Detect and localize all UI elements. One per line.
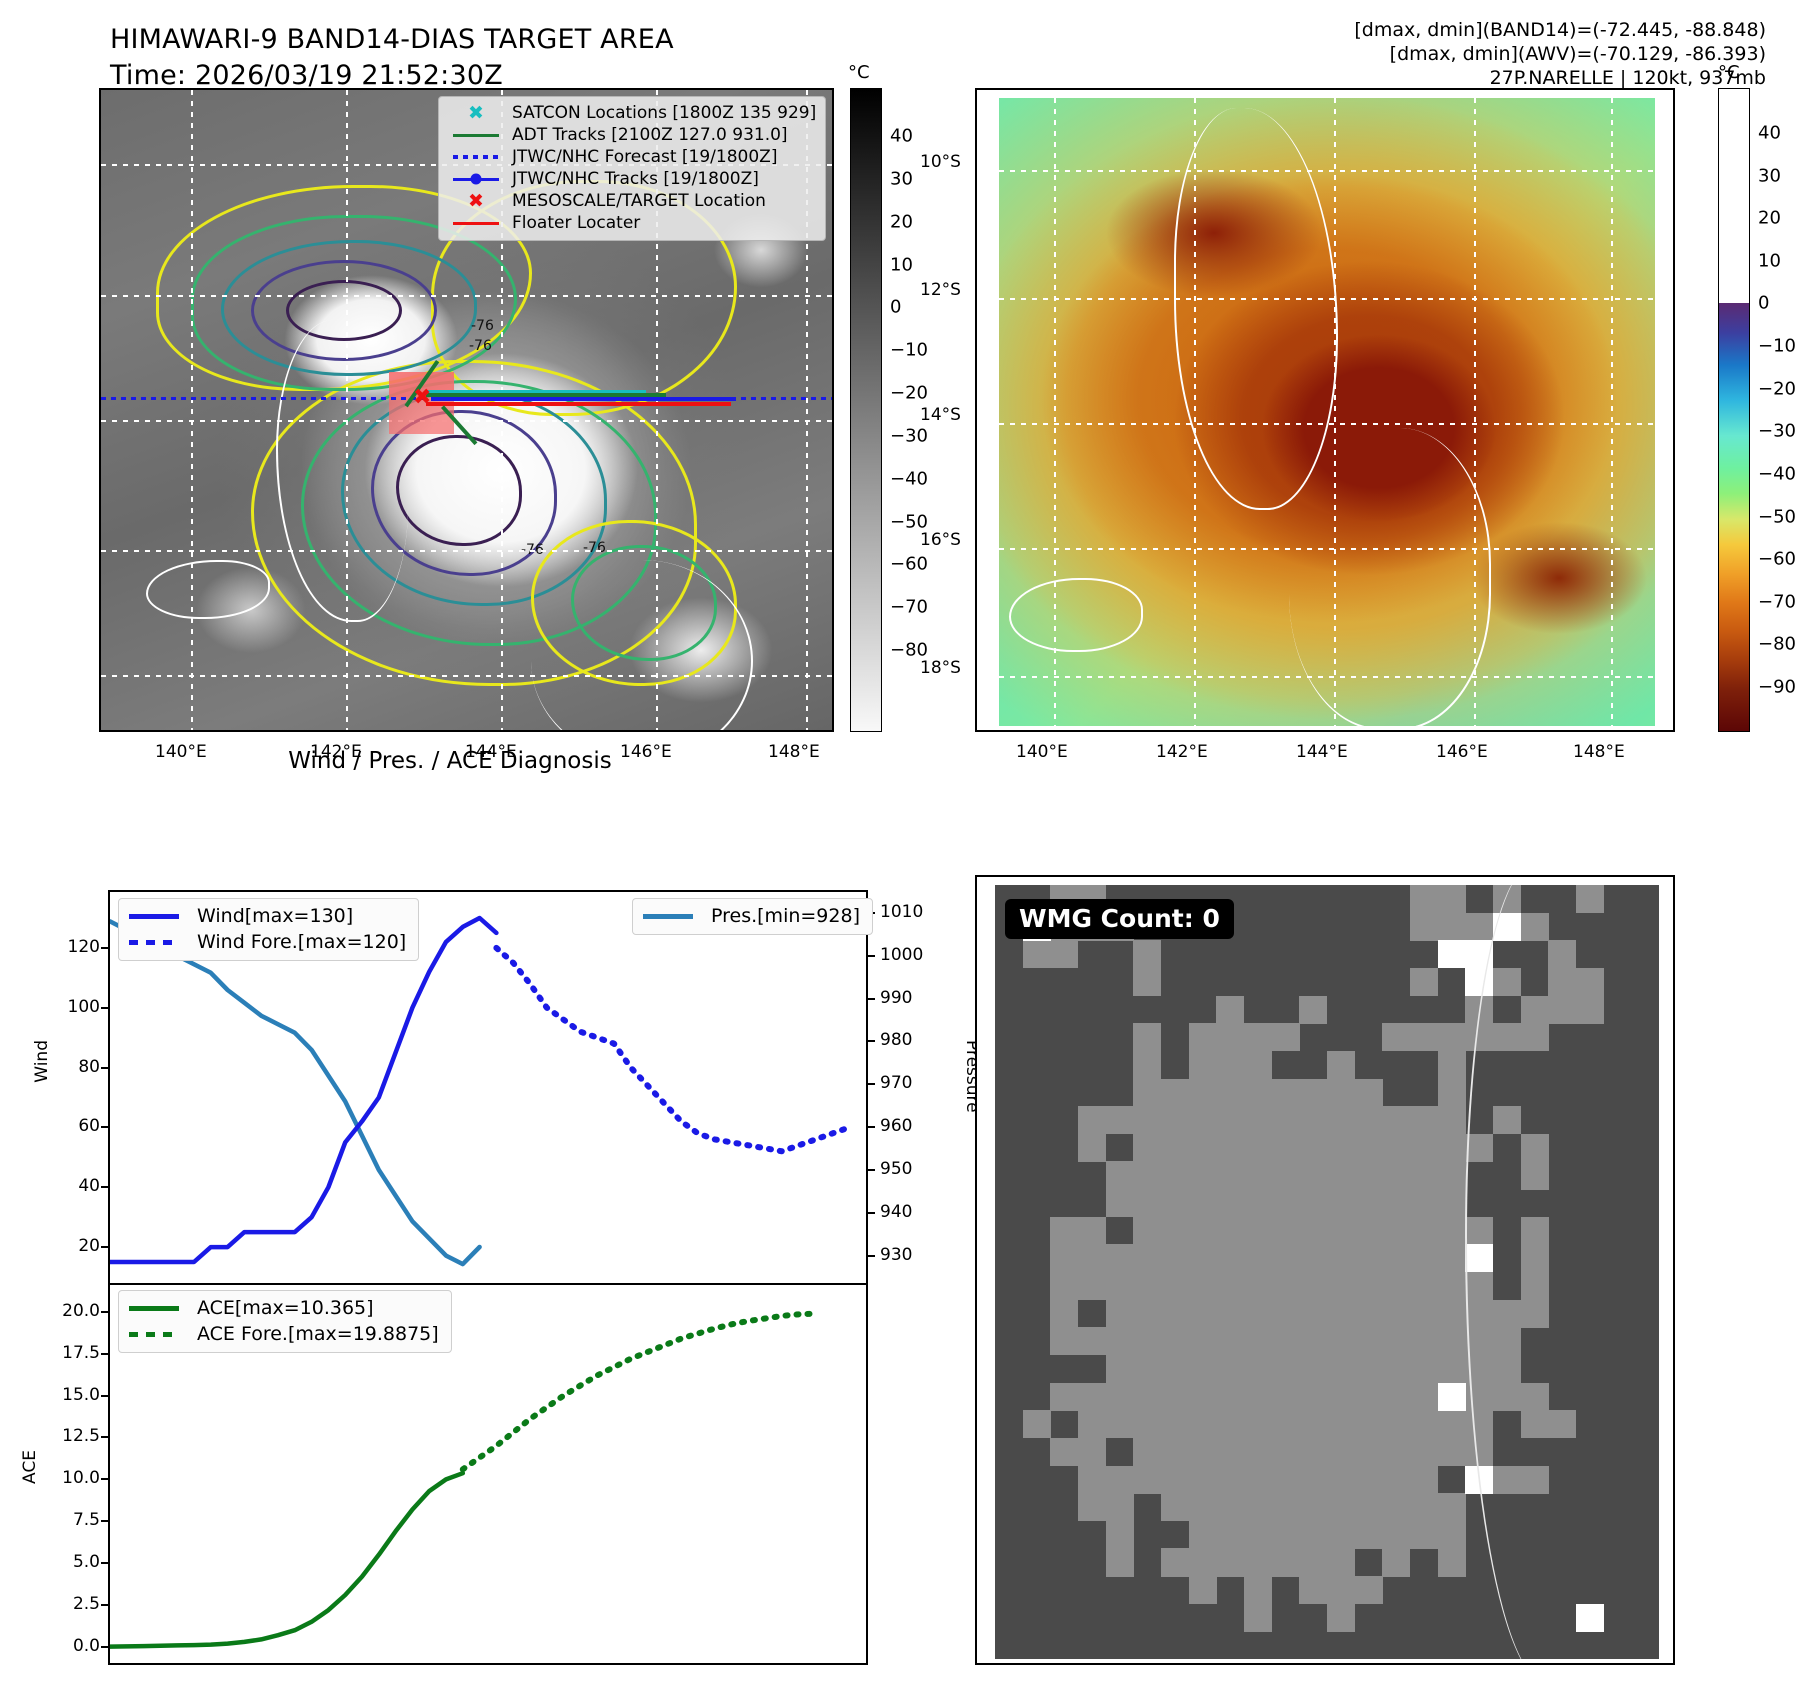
wmg-cell bbox=[1382, 1244, 1410, 1272]
ace-ytick: 5.0 bbox=[38, 1552, 100, 1572]
wmg-cell bbox=[1355, 1438, 1383, 1466]
wmg-cell bbox=[1161, 1466, 1189, 1494]
wmg-cell bbox=[1438, 1410, 1466, 1438]
chart-series-line bbox=[110, 918, 496, 1262]
legend-item-floater[interactable]: Floater Locater bbox=[448, 212, 816, 234]
wmg-cell bbox=[1272, 1327, 1300, 1355]
wmg-cell bbox=[1244, 1493, 1272, 1521]
wmg-cell bbox=[1133, 1244, 1161, 1272]
wind-ytick: 20 bbox=[48, 1236, 100, 1256]
awv-coastline-1 bbox=[1174, 108, 1338, 510]
wmg-cell bbox=[1216, 996, 1244, 1024]
wmg-cell bbox=[1244, 1410, 1272, 1438]
ace-tickmark bbox=[101, 1478, 110, 1480]
gridline-lat-16 bbox=[101, 550, 834, 552]
legend-label-wind: Wind[max=130] bbox=[197, 905, 353, 927]
wmg-cell bbox=[1410, 1217, 1438, 1245]
wmg-cell bbox=[1216, 1023, 1244, 1051]
wmg-cell bbox=[1244, 1161, 1272, 1189]
map-right-lat-label-1: 12°S bbox=[920, 280, 961, 300]
chart-series-line bbox=[496, 948, 849, 1151]
wmg-cell bbox=[1327, 1051, 1355, 1079]
legend-item-ace-forecast[interactable]: ACE Fore.[max=19.8875] bbox=[129, 1321, 439, 1347]
wmg-cell bbox=[1410, 1493, 1438, 1521]
wmg-cell bbox=[1299, 1327, 1327, 1355]
map-right-lat-label-3: 16°S bbox=[920, 530, 961, 550]
satcon-track bbox=[426, 390, 646, 393]
wmg-cell bbox=[1410, 913, 1438, 941]
colorbar-tick: −40 bbox=[1758, 463, 1796, 484]
wmg-cell bbox=[1465, 913, 1493, 941]
colorbar-tick: −50 bbox=[890, 511, 928, 532]
gridline-lat-12 bbox=[101, 295, 834, 297]
wmg-cell bbox=[1299, 996, 1327, 1024]
wmg-cell bbox=[1327, 1272, 1355, 1300]
wmg-cell bbox=[1299, 1466, 1327, 1494]
legend-item-adt[interactable]: ADT Tracks [2100Z 127.0 931.0] bbox=[448, 124, 816, 146]
awv-gridline-lon-140 bbox=[1054, 98, 1056, 726]
wmg-cell bbox=[1382, 1466, 1410, 1494]
wmg-cell bbox=[1327, 1521, 1355, 1549]
jtwc-forecast-dotted-icon bbox=[448, 155, 504, 159]
wmg-cell bbox=[1355, 1521, 1383, 1549]
legend-item-wind-forecast[interactable]: Wind Fore.[max=120] bbox=[129, 929, 406, 955]
gridline-lat-18 bbox=[101, 675, 834, 677]
wmg-cell bbox=[1438, 1079, 1466, 1107]
map-right-lon-label-3: 146°E bbox=[1436, 742, 1488, 762]
wmg-cell bbox=[1438, 1272, 1466, 1300]
pressure-tickmark bbox=[866, 998, 875, 1000]
wmg-cell bbox=[1382, 1327, 1410, 1355]
wmg-cell bbox=[1244, 1548, 1272, 1576]
wmg-cell bbox=[1161, 1244, 1189, 1272]
wmg-cell bbox=[1327, 1134, 1355, 1162]
pressure-chart-legend: Pres.[min=928] bbox=[632, 898, 873, 935]
wmg-cell bbox=[1299, 1438, 1327, 1466]
wmg-cell bbox=[1244, 1189, 1272, 1217]
wmg-cell bbox=[1438, 1189, 1466, 1217]
wmg-cell bbox=[1382, 1521, 1410, 1549]
wmg-cell bbox=[1272, 1521, 1300, 1549]
awv-gridline-lon-148 bbox=[1611, 98, 1613, 726]
wmg-cell bbox=[1355, 1327, 1383, 1355]
wmg-cell bbox=[1355, 1079, 1383, 1107]
wmg-cell-highlight bbox=[1438, 940, 1466, 968]
wmg-cell bbox=[1216, 1079, 1244, 1107]
ace-tickmark bbox=[101, 1646, 110, 1648]
wmg-cell bbox=[1327, 1244, 1355, 1272]
wmg-cell bbox=[1410, 1272, 1438, 1300]
ace-tickmark bbox=[101, 1520, 110, 1522]
wmg-cell bbox=[1272, 1355, 1300, 1383]
wmg-cell bbox=[1216, 1410, 1244, 1438]
jtwc-tracks-line-dot-icon bbox=[448, 178, 504, 181]
diagnosis-title: Wind / Pres. / ACE Diagnosis bbox=[20, 748, 880, 774]
wmg-cell bbox=[1355, 1493, 1383, 1521]
wmg-cell bbox=[1216, 1217, 1244, 1245]
legend-item-pressure[interactable]: Pres.[min=928] bbox=[643, 903, 860, 929]
colorbar-tick: −70 bbox=[890, 597, 928, 618]
legend-label-ace: ACE[max=10.365] bbox=[197, 1297, 374, 1319]
wmg-cell bbox=[1410, 1466, 1438, 1494]
ace-ytick: 0.0 bbox=[38, 1636, 100, 1656]
wmg-cell bbox=[1410, 1410, 1438, 1438]
wmg-cell bbox=[1438, 1438, 1466, 1466]
pressure-tickmark bbox=[866, 1169, 875, 1171]
wmg-cell bbox=[1382, 1438, 1410, 1466]
wmg-cell bbox=[1272, 1410, 1300, 1438]
wmg-cell bbox=[1438, 1300, 1466, 1328]
wmg-cell bbox=[1133, 1217, 1161, 1245]
pressure-ytick: 990 bbox=[880, 988, 912, 1008]
legend-item-mesoscale[interactable]: ✖ MESOSCALE/TARGET Location bbox=[448, 190, 816, 212]
wmg-cell bbox=[1410, 1023, 1438, 1051]
colorbar-tick: −20 bbox=[890, 383, 928, 404]
colorbar-tick: −70 bbox=[1758, 591, 1796, 612]
wmg-cell bbox=[1410, 968, 1438, 996]
wmg-cell bbox=[1244, 1466, 1272, 1494]
contour-label-4: -76 bbox=[583, 540, 606, 556]
wind-chart-legend: Wind[max=130] Wind Fore.[max=120] bbox=[118, 898, 419, 961]
wmg-cell bbox=[1161, 1079, 1189, 1107]
legend-label-pressure: Pres.[min=928] bbox=[711, 905, 860, 927]
pressure-tickmark bbox=[866, 1212, 875, 1214]
wmg-cell bbox=[1299, 1189, 1327, 1217]
wmg-cell bbox=[1216, 1466, 1244, 1494]
legend-label-jtwc-forecast: JTWC/NHC Forecast [19/1800Z] bbox=[512, 147, 777, 167]
wmg-cell bbox=[1133, 1383, 1161, 1411]
ace-tickmark bbox=[101, 1436, 110, 1438]
wmg-cell-highlight bbox=[1438, 1383, 1466, 1411]
map-right-lat-label-4: 18°S bbox=[920, 658, 961, 678]
wmg-cell bbox=[1410, 1134, 1438, 1162]
wmg-cell bbox=[1410, 1521, 1438, 1549]
wmg-cell bbox=[1133, 1410, 1161, 1438]
ace-tickmark bbox=[101, 1395, 110, 1397]
wmg-cell bbox=[1272, 1161, 1300, 1189]
wmg-cell bbox=[1078, 1466, 1106, 1494]
ace-ytick: 10.0 bbox=[38, 1468, 100, 1488]
colorbar-tick: 40 bbox=[1758, 123, 1781, 144]
wmg-cell bbox=[1327, 1217, 1355, 1245]
colorbar-left-unit: °C bbox=[848, 62, 870, 83]
wmg-cell bbox=[1382, 1023, 1410, 1051]
awv-gridline-lat-18 bbox=[999, 676, 1655, 678]
wmg-cell bbox=[1355, 1134, 1383, 1162]
pressure-ytick: 940 bbox=[880, 1202, 912, 1222]
awv-gridline-lat-16 bbox=[999, 548, 1655, 550]
pressure-line-icon bbox=[643, 914, 701, 919]
wmg-cell bbox=[1299, 1355, 1327, 1383]
wmg-cell bbox=[1272, 1217, 1300, 1245]
colorbar-tick: 10 bbox=[1758, 250, 1781, 271]
wind-ytick: 40 bbox=[48, 1176, 100, 1196]
wmg-cell bbox=[1161, 1383, 1189, 1411]
wind-tickmark bbox=[101, 1067, 110, 1069]
wind-ytick: 120 bbox=[48, 937, 100, 957]
wmg-cell bbox=[1299, 1576, 1327, 1604]
wmg-cell bbox=[1438, 1051, 1466, 1079]
awv-satellite-map[interactable] bbox=[975, 88, 1675, 732]
wmg-cell bbox=[1382, 1217, 1410, 1245]
wmg-cell bbox=[1106, 1272, 1134, 1300]
wmg-cell bbox=[1327, 1189, 1355, 1217]
wmg-cell bbox=[1106, 1244, 1134, 1272]
wmg-cell bbox=[1189, 1521, 1217, 1549]
wmg-cell bbox=[1382, 1410, 1410, 1438]
wmg-cell bbox=[1327, 1327, 1355, 1355]
wind-ytick: 100 bbox=[48, 997, 100, 1017]
colorbar-tick: −50 bbox=[1758, 506, 1796, 527]
wmg-cell bbox=[1106, 1189, 1134, 1217]
awv-coastline-3 bbox=[1009, 578, 1143, 652]
mesoscale-x-icon: ✖ bbox=[448, 192, 504, 211]
colorbar-tick: −80 bbox=[1758, 634, 1796, 655]
wmg-cell bbox=[1106, 1355, 1134, 1383]
wmg-cell bbox=[1244, 1438, 1272, 1466]
wmg-cell bbox=[1133, 1051, 1161, 1079]
wmg-cell bbox=[1189, 1051, 1217, 1079]
wmg-cell bbox=[1216, 1383, 1244, 1411]
gridline-lon-140 bbox=[191, 90, 193, 732]
wmg-cell bbox=[1161, 1161, 1189, 1189]
wmg-cell bbox=[1189, 1493, 1217, 1521]
wmg-cell bbox=[1299, 1521, 1327, 1549]
map-right-lon-label-1: 142°E bbox=[1156, 742, 1208, 762]
wmg-cell bbox=[1272, 1493, 1300, 1521]
wmg-cell bbox=[1327, 1438, 1355, 1466]
ace-tickmark bbox=[101, 1562, 110, 1564]
wmg-cell bbox=[1327, 1300, 1355, 1328]
wmg-cell bbox=[1133, 1161, 1161, 1189]
wmg-cell bbox=[1133, 1272, 1161, 1300]
wmg-cell bbox=[1438, 1521, 1466, 1549]
wmg-cell bbox=[1244, 1355, 1272, 1383]
wmg-cell bbox=[1355, 1272, 1383, 1300]
wmg-cell bbox=[1382, 1383, 1410, 1411]
jtwc-nhc-forecast-dotted bbox=[101, 397, 834, 400]
wmg-cell bbox=[1355, 1355, 1383, 1383]
wmg-cell bbox=[1355, 1106, 1383, 1134]
wmg-cell bbox=[1382, 1134, 1410, 1162]
colorbar-tick: −40 bbox=[890, 468, 928, 489]
legend-label-adt: ADT Tracks [2100Z 127.0 931.0] bbox=[512, 125, 788, 145]
wmg-cell bbox=[1272, 1300, 1300, 1328]
wmg-cell bbox=[1078, 1327, 1106, 1355]
colorbar-tick: 30 bbox=[890, 168, 913, 189]
wmg-cell bbox=[1299, 1383, 1327, 1411]
satcon-x-icon: ✖ bbox=[448, 104, 504, 123]
wmg-cell bbox=[1133, 1106, 1161, 1134]
wmg-cell bbox=[1272, 1548, 1300, 1576]
wmg-cell bbox=[1161, 1327, 1189, 1355]
wmg-cell bbox=[1189, 1217, 1217, 1245]
pressure-ytick: 930 bbox=[880, 1245, 912, 1265]
colorbar-tick: −60 bbox=[1758, 549, 1796, 570]
wmg-cell bbox=[1106, 1410, 1134, 1438]
wmg-cell bbox=[1355, 1383, 1383, 1411]
chart-series-line bbox=[463, 1314, 816, 1470]
wmg-cell bbox=[1189, 1410, 1217, 1438]
wmg-cell bbox=[1133, 1438, 1161, 1466]
wmg-cell bbox=[1078, 1134, 1106, 1162]
wind-forecast-dotted-icon bbox=[129, 940, 187, 945]
map-right-lat-label-0: 10°S bbox=[920, 152, 961, 172]
wmg-cell bbox=[1078, 1438, 1106, 1466]
legend-label-floater: Floater Locater bbox=[512, 213, 640, 233]
wmg-cell bbox=[1327, 1493, 1355, 1521]
wmg-cell bbox=[1106, 1161, 1134, 1189]
wmg-cell bbox=[1106, 1493, 1134, 1521]
wmg-cell bbox=[1216, 1548, 1244, 1576]
wmg-cell bbox=[1299, 1134, 1327, 1162]
pressure-tickmark bbox=[866, 1083, 875, 1085]
wmg-cell bbox=[1161, 1410, 1189, 1438]
pressure-tickmark bbox=[866, 1126, 875, 1128]
legend-item-satcon[interactable]: ✖ SATCON Locations [1800Z 135 929] bbox=[448, 102, 816, 124]
awv-gridline-lat-10 bbox=[999, 170, 1655, 172]
wmg-cell bbox=[1216, 1521, 1244, 1549]
storm-summary-text: 27P.NARELLE | 120kt, 937mb bbox=[1354, 66, 1766, 90]
chart-series-line bbox=[110, 921, 480, 1264]
ace-tickmark bbox=[101, 1353, 110, 1355]
wmg-cell bbox=[1106, 1106, 1134, 1134]
wmg-cell bbox=[1216, 1244, 1244, 1272]
wmg-cell bbox=[1410, 1161, 1438, 1189]
wmg-cell bbox=[1216, 1134, 1244, 1162]
wmg-cell bbox=[1050, 1383, 1078, 1411]
wmg-cell bbox=[1244, 1106, 1272, 1134]
wmg-cell bbox=[1078, 1217, 1106, 1245]
legend-item-jtwc-forecast[interactable]: JTWC/NHC Forecast [19/1800Z] bbox=[448, 146, 816, 168]
wmg-cell bbox=[1244, 1300, 1272, 1328]
wmg-cell bbox=[1189, 1106, 1217, 1134]
awv-gridline-lon-142 bbox=[1194, 98, 1196, 726]
wmg-cell bbox=[1438, 1217, 1466, 1245]
wmg-cell bbox=[1299, 1244, 1327, 1272]
title-line-1: HIMAWARI-9 BAND14-DIAS TARGET AREA bbox=[110, 22, 674, 58]
wmg-cell bbox=[1189, 1300, 1217, 1328]
colorbar-tick: −60 bbox=[890, 554, 928, 575]
wmg-cell bbox=[1382, 1189, 1410, 1217]
wmg-cell bbox=[1327, 1079, 1355, 1107]
wmg-cell bbox=[1189, 1576, 1217, 1604]
wmg-cell bbox=[1272, 1134, 1300, 1162]
header-metadata: [dmax, dmin](BAND14)=(-72.445, -88.848) … bbox=[1354, 18, 1766, 90]
wmg-cell bbox=[1078, 1244, 1106, 1272]
wmg-cell bbox=[1410, 1383, 1438, 1411]
wmg-panel[interactable]: WMG Count: 0 bbox=[975, 875, 1675, 1665]
wmg-cell bbox=[1161, 1189, 1189, 1217]
pressure-ytick: 1010 bbox=[880, 902, 923, 922]
wmg-cell bbox=[1106, 1300, 1134, 1328]
pressure-ytick: 960 bbox=[880, 1116, 912, 1136]
wmg-count-badge: WMG Count: 0 bbox=[1005, 899, 1234, 939]
wmg-cell bbox=[1216, 1300, 1244, 1328]
wmg-cell bbox=[1410, 885, 1438, 913]
awv-gridline-lat-12 bbox=[999, 298, 1655, 300]
wmg-cell bbox=[1189, 1079, 1217, 1107]
wmg-cell bbox=[1410, 1189, 1438, 1217]
wmg-cell bbox=[1078, 1410, 1106, 1438]
wmg-cell bbox=[1438, 1023, 1466, 1051]
wmg-cell bbox=[1161, 1272, 1189, 1300]
wmg-cell bbox=[1216, 1355, 1244, 1383]
wmg-cell bbox=[1189, 1383, 1217, 1411]
wind-line-icon bbox=[129, 914, 187, 919]
gridline-lat-14 bbox=[101, 420, 834, 422]
colorbar-tick: 0 bbox=[890, 297, 901, 318]
wmg-cell bbox=[1244, 1244, 1272, 1272]
wmg-cell bbox=[1355, 1244, 1383, 1272]
colorbar-tick: −10 bbox=[1758, 336, 1796, 357]
wmg-cell bbox=[1133, 1023, 1161, 1051]
legend-item-jtwc-tracks[interactable]: JTWC/NHC Tracks [19/1800Z] bbox=[448, 168, 816, 190]
wmg-cell bbox=[1244, 1023, 1272, 1051]
ace-ytick: 12.5 bbox=[38, 1426, 100, 1446]
legend-item-ace[interactable]: ACE[max=10.365] bbox=[129, 1295, 439, 1321]
wmg-cell bbox=[1216, 1327, 1244, 1355]
wmg-cell bbox=[1106, 1383, 1134, 1411]
colorbar-left bbox=[850, 88, 882, 732]
wind-tickmark bbox=[101, 947, 110, 949]
wmg-cell bbox=[1272, 1438, 1300, 1466]
wind-tickmark bbox=[101, 1246, 110, 1248]
wmg-cell bbox=[1382, 1106, 1410, 1134]
wmg-cell bbox=[1216, 1189, 1244, 1217]
wmg-cell bbox=[1438, 1134, 1466, 1162]
wmg-cell bbox=[1272, 1189, 1300, 1217]
dmax-band14-text: [dmax, dmin](BAND14)=(-72.445, -88.848) bbox=[1354, 18, 1766, 42]
colorbar-tick: 40 bbox=[890, 126, 913, 147]
wmg-cell bbox=[1244, 1383, 1272, 1411]
floater-line-icon bbox=[448, 222, 504, 225]
legend-item-wind[interactable]: Wind[max=130] bbox=[129, 903, 406, 929]
colorbar-tick: 30 bbox=[1758, 165, 1781, 186]
gridline-lon-142 bbox=[346, 90, 348, 732]
legend-label-mesoscale: MESOSCALE/TARGET Location bbox=[512, 191, 766, 211]
map-right-lon-label-4: 148°E bbox=[1573, 742, 1625, 762]
awv-imagery bbox=[999, 98, 1655, 726]
wmg-cell bbox=[1299, 1272, 1327, 1300]
awv-coastline-2 bbox=[1289, 428, 1491, 726]
wmg-cell bbox=[1382, 1355, 1410, 1383]
legend-label-jtwc-tracks: JTWC/NHC Tracks [19/1800Z] bbox=[512, 169, 759, 189]
wmg-cell bbox=[1327, 1161, 1355, 1189]
wmg-cell bbox=[1410, 1438, 1438, 1466]
wmg-cell bbox=[1216, 1272, 1244, 1300]
wmg-cell bbox=[1244, 1217, 1272, 1245]
colorbar-right-unit: °C bbox=[1718, 62, 1740, 83]
wmg-cell bbox=[1244, 1134, 1272, 1162]
wmg-cell bbox=[1244, 1576, 1272, 1604]
colorbar-tick: 0 bbox=[1758, 293, 1769, 314]
wmg-cell bbox=[1133, 1189, 1161, 1217]
wmg-cell bbox=[1355, 1466, 1383, 1494]
wmg-cell bbox=[1189, 1548, 1217, 1576]
wmg-cell bbox=[1244, 1604, 1272, 1632]
wmg-cell bbox=[1161, 1493, 1189, 1521]
wmg-cell bbox=[1382, 1548, 1410, 1576]
wmg-cell bbox=[1355, 1189, 1383, 1217]
wmg-cell bbox=[1050, 1244, 1078, 1272]
ace-forecast-dotted-icon bbox=[129, 1332, 187, 1337]
colorbar-tick: 20 bbox=[1758, 208, 1781, 229]
ace-ytick: 20.0 bbox=[38, 1301, 100, 1321]
legend-label-satcon: SATCON Locations [1800Z 135 929] bbox=[512, 103, 816, 123]
wmg-cell bbox=[1299, 1548, 1327, 1576]
wind-ytick: 80 bbox=[48, 1057, 100, 1077]
